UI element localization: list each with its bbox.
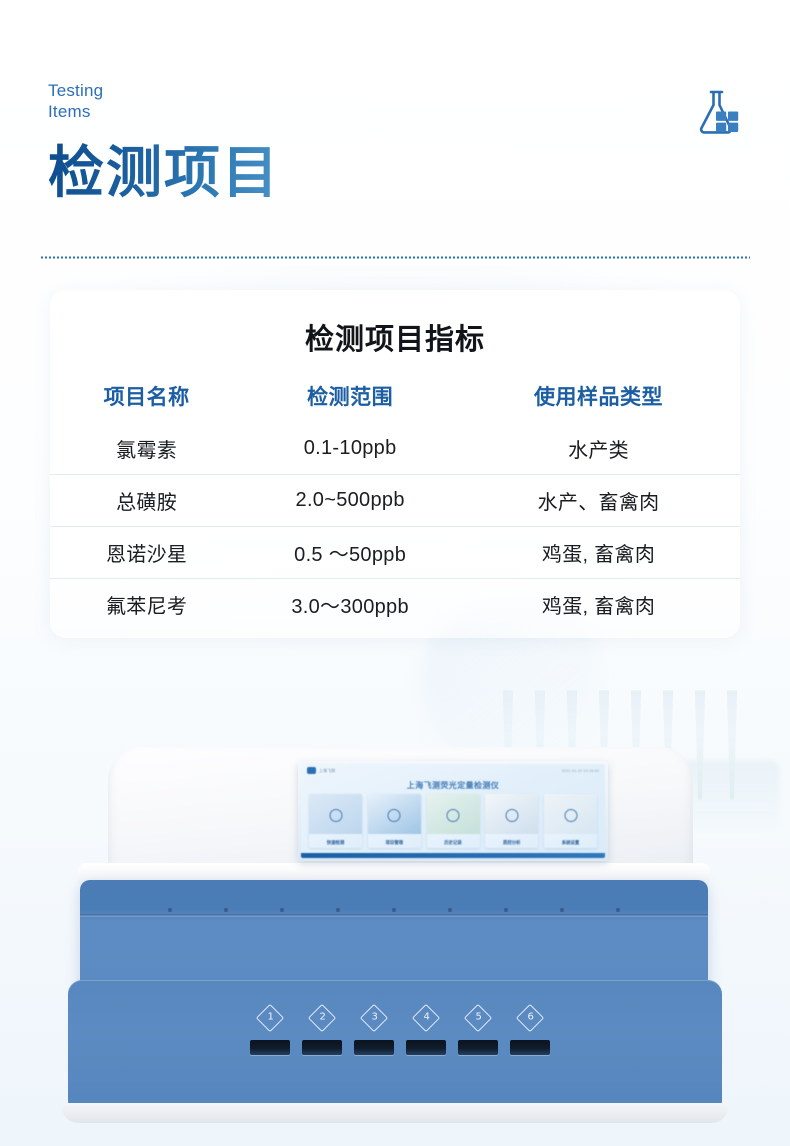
card-title: 检测项目指标 xyxy=(50,316,740,358)
tile-icon xyxy=(329,809,342,822)
screen-footer-bar xyxy=(301,853,605,858)
slot-opening xyxy=(250,1040,290,1055)
screen-logo: 上海飞测 xyxy=(307,767,335,774)
table-row: 总磺胺 2.0~500ppb 水产、畜禽肉 xyxy=(50,475,740,527)
cell-sample-type: 鸡蛋, 畜禽肉 xyxy=(457,579,740,631)
cell-detect-range: 3.0～300ppb xyxy=(243,579,457,631)
sample-slot-3[interactable]: 3 xyxy=(354,1030,394,1080)
screen-tile-2[interactable]: 项目管理 xyxy=(368,794,421,848)
device-touchscreen[interactable]: 上海飞测 2021-01-20 10:16:43 上海飞测荧光定量检测仪 快速检… xyxy=(301,764,605,858)
cell-detect-range: 2.0~500ppb xyxy=(243,475,457,527)
device-screen-bezel: 上海飞测 2021-01-20 10:16:43 上海飞测荧光定量检测仪 快速检… xyxy=(298,761,608,861)
slot-number-label: 2 xyxy=(314,1009,332,1025)
screen-tile-1[interactable]: 快速检测 xyxy=(309,794,362,848)
slot-opening xyxy=(510,1040,550,1055)
cell-detect-range: 0.1-10ppb xyxy=(243,423,457,475)
flask-icon xyxy=(692,88,740,138)
screen-title: 上海飞测荧光定量检测仪 xyxy=(301,780,605,791)
slot-number-label: 4 xyxy=(418,1009,436,1025)
page-root: Testing Items 检测项目 检测项目指标 项目名称 检测范围 使用样品… xyxy=(0,0,790,1146)
device-vent-dot xyxy=(280,908,284,912)
eyebrow-line-2: Items xyxy=(48,101,748,122)
cell-sample-type: 鸡蛋, 畜禽肉 xyxy=(457,527,740,579)
device-vent-dot xyxy=(224,908,228,912)
table-header-row: 项目名称 检测范围 使用样品类型 xyxy=(50,380,740,423)
tile-caption: 快速检测 xyxy=(309,840,362,846)
table-row: 恩诺沙星 0.5 ～50ppb 鸡蛋, 畜禽肉 xyxy=(50,527,740,579)
sample-slot-row: 1 2 3 4 5 6 xyxy=(250,1030,550,1080)
screen-logo-text: 上海飞测 xyxy=(319,768,335,774)
screen-tile-row: 快速检测 项目管理 历史记录 质控分析 xyxy=(309,794,597,848)
tile-caption: 历史记录 xyxy=(427,840,480,846)
cell-sample-type: 水产、畜禽肉 xyxy=(457,475,740,527)
spec-card: 检测项目指标 项目名称 检测范围 使用样品类型 氯霉素 0.1-10ppb 水产… xyxy=(50,290,740,638)
device-vent-dot xyxy=(560,908,564,912)
sample-slot-5[interactable]: 5 xyxy=(458,1030,498,1080)
tile-caption: 系统设置 xyxy=(544,840,597,846)
tile-icon xyxy=(564,809,577,822)
device-vent-dot xyxy=(448,908,452,912)
slot-opening xyxy=(354,1040,394,1055)
slot-opening xyxy=(302,1040,342,1055)
screen-tile-5[interactable]: 系统设置 xyxy=(544,794,597,848)
slot-opening xyxy=(406,1040,446,1055)
device-vent-dot xyxy=(504,908,508,912)
cell-sample-type: 水产类 xyxy=(457,423,740,475)
slot-opening xyxy=(458,1040,498,1055)
tile-icon xyxy=(447,809,460,822)
sample-slot-2[interactable]: 2 xyxy=(302,1030,342,1080)
slot-number-label: 3 xyxy=(366,1009,384,1025)
slot-number-label: 6 xyxy=(522,1009,540,1025)
brand-mark-icon xyxy=(307,767,316,774)
cell-detect-range: 0.5 ～50ppb xyxy=(243,527,457,579)
slot-number-label: 1 xyxy=(262,1009,280,1025)
device-vent-dot xyxy=(168,908,172,912)
table-row: 氟苯尼考 3.0～300ppb 鸡蛋, 畜禽肉 xyxy=(50,579,740,631)
slot-number-label: 5 xyxy=(470,1009,488,1025)
sample-slot-4[interactable]: 4 xyxy=(406,1030,446,1080)
cell-item-name: 氯霉素 xyxy=(50,423,243,475)
screen-tile-4[interactable]: 质控分析 xyxy=(485,794,538,848)
cell-item-name: 总磺胺 xyxy=(50,475,243,527)
device-illustration: 1 2 3 4 5 6 xyxy=(0,735,790,1146)
tile-caption: 质控分析 xyxy=(485,840,538,846)
eyebrow-text: Testing Items xyxy=(48,80,748,122)
device-body-crease xyxy=(80,914,708,917)
eyebrow-line-1: Testing xyxy=(48,80,748,101)
tile-icon xyxy=(505,809,518,822)
device-vent-dot xyxy=(392,908,396,912)
device-vent-dot xyxy=(336,908,340,912)
header-divider xyxy=(40,256,750,259)
column-header-name: 项目名称 xyxy=(50,380,243,423)
device-vent-dot xyxy=(616,908,620,912)
screen-status-bar: 上海飞测 2021-01-20 10:16:43 xyxy=(301,764,605,777)
cell-item-name: 恩诺沙星 xyxy=(50,527,243,579)
column-header-sample: 使用样品类型 xyxy=(457,380,740,423)
column-header-range: 检测范围 xyxy=(243,380,457,423)
screen-timestamp: 2021-01-20 10:16:43 xyxy=(562,769,599,773)
tile-icon xyxy=(388,809,401,822)
sample-slot-1[interactable]: 1 xyxy=(250,1030,290,1080)
device-base xyxy=(62,1103,728,1123)
table-row: 氯霉素 0.1-10ppb 水产类 xyxy=(50,423,740,475)
spec-table: 项目名称 检测范围 使用样品类型 氯霉素 0.1-10ppb 水产类 总磺胺 2… xyxy=(50,380,740,630)
screen-tile-3[interactable]: 历史记录 xyxy=(427,794,480,848)
sample-slot-6[interactable]: 6 xyxy=(510,1030,550,1080)
tile-caption: 项目管理 xyxy=(368,840,421,846)
page-header: Testing Items 检测项目 xyxy=(48,80,748,204)
page-title: 检测项目 xyxy=(48,142,280,204)
cell-item-name: 氟苯尼考 xyxy=(50,579,243,631)
